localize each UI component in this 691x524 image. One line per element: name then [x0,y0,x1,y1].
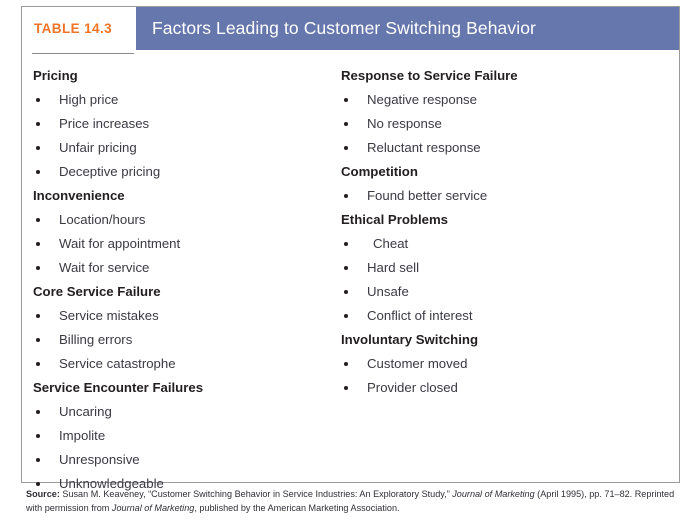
list-item: Hard sell [341,256,679,280]
bullet-icon [33,208,59,232]
list-item: No response [341,112,679,136]
source-note: Source: Susan M. Keaveney, “Customer Swi… [26,487,676,515]
list-item: Conflict of interest [341,304,679,328]
list-item: Uncaring [33,400,341,424]
list-item: Negative response [341,88,679,112]
source-label: Source: [26,489,60,499]
list-item-label: Deceptive pricing [59,160,160,184]
source-journal-name-1: Journal of Marketing [452,489,534,499]
group-heading-ethical-problems: Ethical Problems [341,208,679,232]
bullet-icon [33,136,59,160]
list-item-label: Location/hours [59,208,146,232]
list-item-label: Unfair pricing [59,136,137,160]
list-item: Price increases [33,112,341,136]
list-item: Billing errors [33,328,341,352]
list-item: Unresponsive [33,448,341,472]
group-heading-service-encounter-failures: Service Encounter Failures [33,376,341,400]
bullet-icon [341,232,367,256]
list-item-label: Service catastrophe [59,352,176,376]
list-item: Location/hours [33,208,341,232]
bullet-icon [33,256,59,280]
group-heading-involuntary-switching: Involuntary Switching [341,328,679,352]
source-text-part-3: , published by the American Marketing As… [194,503,399,513]
list-item: Service mistakes [33,304,341,328]
bullet-icon [33,424,59,448]
list-item-label: High price [59,88,118,112]
list-item-label: Hard sell [367,256,419,280]
bullet-icon [33,88,59,112]
table-title-bar: Factors Leading to Customer Switching Be… [136,7,679,50]
list-item-label: Found better service [367,184,487,208]
bullet-icon [33,352,59,376]
group-heading-competition: Competition [341,160,679,184]
table-number-label: TABLE 14.3 [34,21,112,36]
table-number-box: TABLE 14.3 [22,7,136,50]
source-text-part-1: Susan M. Keaveney, “Customer Switching B… [60,489,452,499]
bullet-icon [33,304,59,328]
column-left: Pricing High price Price increases Unfai… [22,64,341,496]
list-item: High price [33,88,341,112]
list-item: Wait for appointment [33,232,341,256]
list-item-label: Cheat [367,232,408,256]
group-heading-pricing: Pricing [33,64,341,88]
bullet-icon [33,448,59,472]
list-item-label: Reluctant response [367,136,481,160]
list-item: Unsafe [341,280,679,304]
list-item: Customer moved [341,352,679,376]
list-item: Provider closed [341,376,679,400]
group-heading-inconvenience: Inconvenience [33,184,341,208]
bullet-icon [33,232,59,256]
bullet-icon [341,136,367,160]
list-item-label: Unresponsive [59,448,140,472]
bullet-icon [33,400,59,424]
list-item: Impolite [33,424,341,448]
list-item-label: Conflict of interest [367,304,473,328]
bullet-icon [341,352,367,376]
bullet-icon [341,256,367,280]
list-item-label: Price increases [59,112,149,136]
bullet-icon [341,280,367,304]
list-item: Deceptive pricing [33,160,341,184]
list-item: Wait for service [33,256,341,280]
list-item-label: Provider closed [367,376,458,400]
list-item-label: Wait for service [59,256,149,280]
list-item-label: Negative response [367,88,477,112]
group-heading-response-to-service-failure: Response to Service Failure [341,64,679,88]
bullet-icon [341,304,367,328]
list-item: Reluctant response [341,136,679,160]
list-item-label: Wait for appointment [59,232,180,256]
group-heading-core-service-failure: Core Service Failure [33,280,341,304]
table-body: Pricing High price Price increases Unfai… [22,50,679,496]
table-title: Factors Leading to Customer Switching Be… [152,18,536,39]
list-item: Found better service [341,184,679,208]
column-right: Response to Service Failure Negative res… [341,64,679,496]
bullet-icon [33,328,59,352]
list-item-label: Service mistakes [59,304,159,328]
list-item-label: Impolite [59,424,105,448]
bullet-icon [341,184,367,208]
list-item: Unfair pricing [33,136,341,160]
list-item-label: Unsafe [367,280,409,304]
bullet-icon [33,160,59,184]
bullet-icon [33,112,59,136]
bullet-icon [341,112,367,136]
list-item-label: Uncaring [59,400,112,424]
list-item-label: Customer moved [367,352,467,376]
bullet-icon [341,88,367,112]
list-item: Service catastrophe [33,352,341,376]
list-item-label: No response [367,112,442,136]
list-item: Cheat [341,232,679,256]
bullet-icon [341,376,367,400]
list-item-label: Billing errors [59,328,132,352]
table-header: TABLE 14.3 Factors Leading to Customer S… [22,7,679,50]
source-journal-name-2: Journal of Marketing [112,503,194,513]
table-figure: TABLE 14.3 Factors Leading to Customer S… [21,6,680,483]
